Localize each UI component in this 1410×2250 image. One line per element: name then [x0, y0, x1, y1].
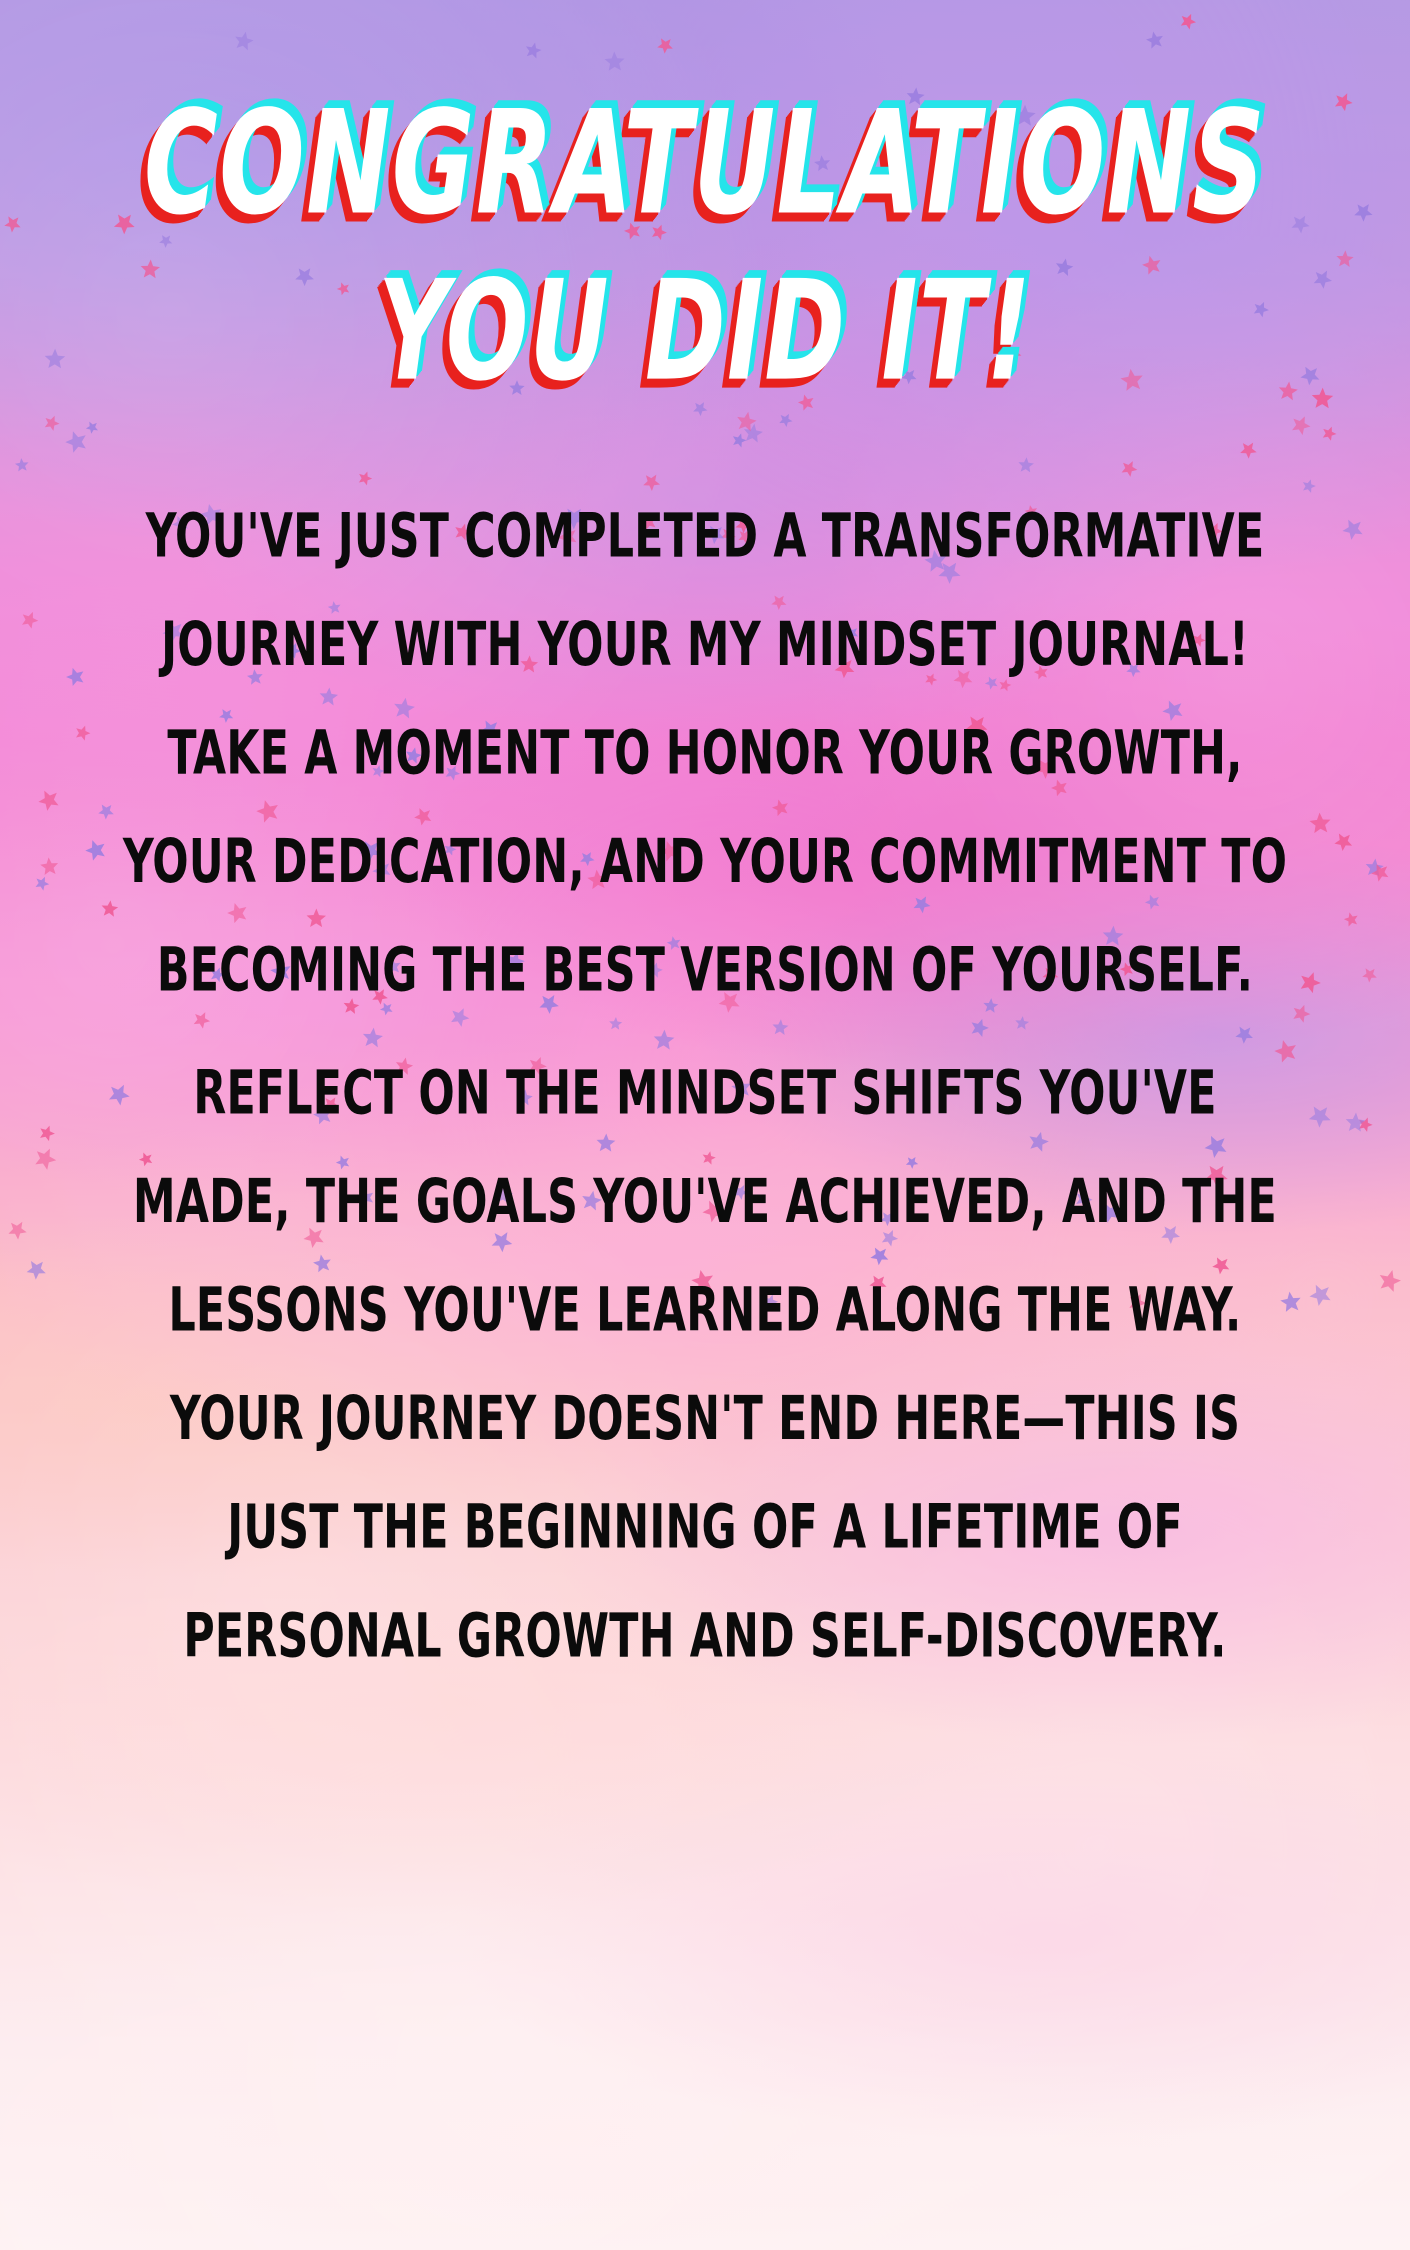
- body-paragraph-2: REFLECT ON THE MINDSET SHIFTS YOU'VE MAD…: [111, 1039, 1299, 1690]
- page-title: CONGRATULATIONS: [0, 96, 1410, 234]
- body-paragraph-1: YOU'VE JUST COMPLETED A TRANSFORMATIVE J…: [111, 482, 1299, 1025]
- poster-title-block: CONGRATULATIONS YOU DID IT!: [0, 96, 1410, 369]
- poster-content: CONGRATULATIONS YOU DID IT! YOU'VE JUST …: [0, 0, 1410, 2250]
- page-subtitle: YOU DID IT!: [0, 266, 1410, 399]
- congratulations-poster: CONGRATULATIONS YOU DID IT! YOU'VE JUST …: [0, 0, 1410, 2250]
- poster-body-block: YOU'VE JUST COMPLETED A TRANSFORMATIVE J…: [80, 482, 1330, 1573]
